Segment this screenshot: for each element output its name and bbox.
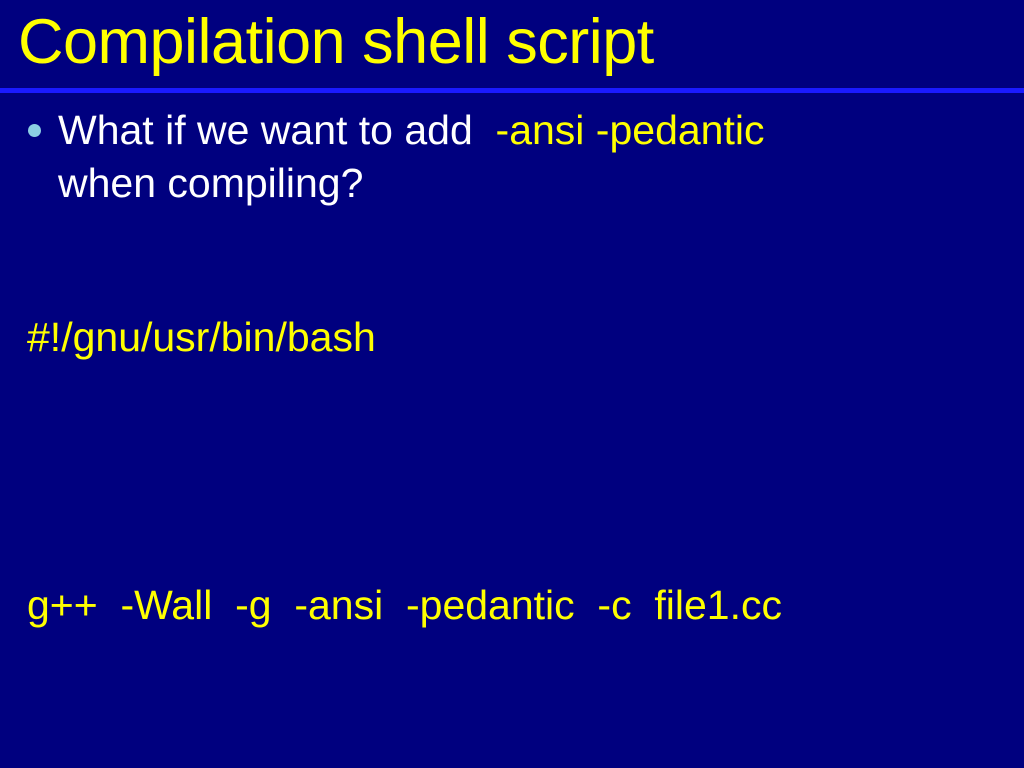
code-line: g++ -Wall -g -ansi -pedantic -c file1.cc — [27, 574, 1017, 636]
title-divider — [0, 88, 1024, 93]
bullet-text-trailing: when compiling? — [58, 160, 363, 206]
code-line: g++ -Wall -g -ansi -pedantic -c file2.cc — [27, 760, 1017, 768]
bullet-dot-icon — [28, 124, 41, 137]
code-block: g++ -Wall -g -ansi -pedantic -c file1.cc… — [27, 450, 1017, 768]
page-title: Compilation shell script — [18, 4, 1008, 80]
bullet-text-flags: -ansi -pedantic — [496, 107, 765, 153]
slide-canvas: Compilation shell script What if we want… — [0, 0, 1024, 768]
code-shebang-line: #!/gnu/usr/bin/bash — [27, 311, 376, 363]
bullet-item-label: What if we want to add -ansi -pedantic w… — [58, 104, 1008, 210]
bullet-text-leading: What if we want to add — [58, 107, 496, 153]
bullet-list-item: What if we want to add -ansi -pedantic w… — [28, 104, 1008, 210]
